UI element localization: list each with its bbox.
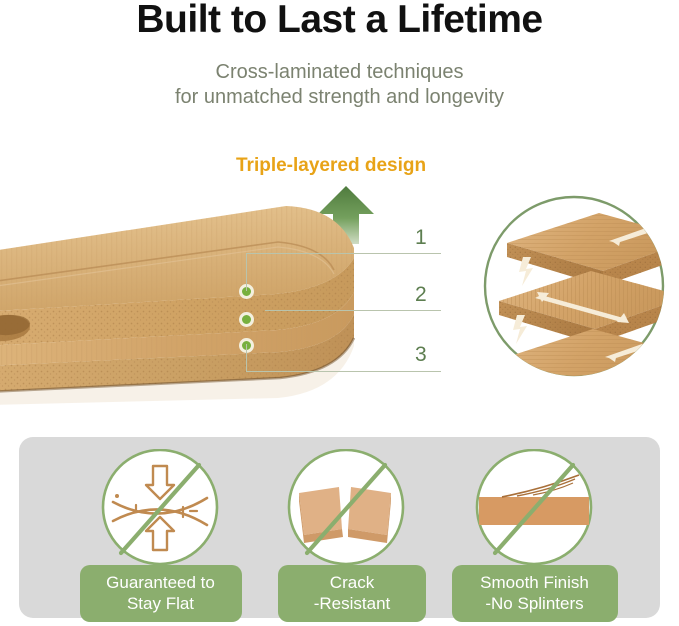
splintered-board-icon (447, 449, 622, 572)
layer-number-1: 1 (415, 226, 427, 250)
bamboo-board-image (0, 196, 386, 408)
leader-line-1 (246, 253, 441, 254)
page-title: Built to Last a Lifetime (0, 0, 679, 42)
leader-line-3 (246, 371, 441, 372)
subtitle-line2: for unmatched strength and longevity (0, 85, 679, 110)
feature-label-line2: -Resistant (284, 593, 420, 614)
subtitle-rest: techniques (361, 61, 463, 83)
subtitle: Cross-laminated techniques for unmatched… (0, 60, 679, 110)
cracked-board-icon (259, 449, 434, 572)
feature-label: Crack -Resistant (278, 565, 426, 622)
feature-label: Guaranteed to Stay Flat (80, 565, 242, 622)
warped-board-with-pressure-arrows-icon (73, 449, 248, 572)
leader-line-vertical-1 (246, 253, 247, 291)
feature-label-line1: Smooth Finish (480, 573, 589, 592)
layer-number-2: 2 (415, 283, 427, 307)
feature-crack-resistant: Crack -Resistant (259, 449, 434, 622)
layer-marker-dot-2 (239, 312, 254, 327)
feature-guaranteed-to-stay-flat: Guaranteed to Stay Flat (73, 449, 248, 622)
feature-label: Smooth Finish -No Splinters (452, 565, 618, 622)
cross-lamination-diagram (479, 191, 669, 381)
infographic-root: Built to Last a Lifetime Cross-laminated… (0, 0, 679, 626)
triple-layered-label: Triple-layered design (236, 155, 426, 177)
feature-label-line1: Guaranteed to (106, 573, 215, 592)
feature-label-line1: Crack (330, 573, 374, 592)
leader-line-vertical-3 (246, 344, 247, 371)
subtitle-accent: Cross-laminated (216, 61, 362, 83)
leader-line-2 (265, 310, 441, 311)
feature-smooth-finish-no-splinters: Smooth Finish -No Splinters (447, 449, 622, 622)
feature-label-line2: Stay Flat (86, 593, 236, 614)
feature-label-line2: -No Splinters (458, 593, 612, 614)
layer-number-3: 3 (415, 343, 427, 367)
